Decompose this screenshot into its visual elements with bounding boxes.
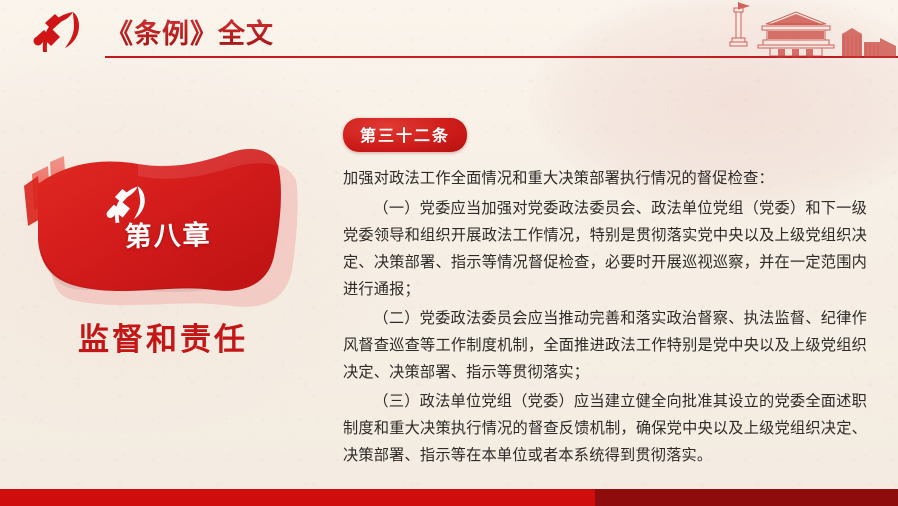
article-item-1: （一）党委应当加强对党委政法委员会、政法单位党组（党委）和下一级党委领导和组织开… [343,195,867,303]
article-item-2: （二）党委政法委员会应当推动完善和落实政治督察、执法监督、纪律作风督查巡查等工作… [343,305,867,386]
chapter-title-label: 监督和责任 [18,314,308,359]
article-content: 第三十二条 加强对政法工作全面情况和重大决策部署执行情况的督促检查： （一）党委… [343,118,867,469]
hammer-sickle-emblem-icon [29,8,91,56]
page-title: 《条例》全文 [106,12,274,51]
article-number-badge: 第三十二条 [343,118,467,152]
chapter-number-label: 第八章 [18,211,319,256]
chapter-flag-panel: 第八章 监督和责任 [18,128,318,378]
footer-bar-left-segment [0,489,595,506]
tiananmen-skyline-icon [666,0,898,58]
footer-bar [0,489,898,506]
footer-bar-right-segment [595,489,898,506]
slide-canvas: 《条例》全文 [0,0,898,506]
article-lead-paragraph: 加强对政法工作全面情况和重大决策部署执行情况的督促检查： [343,165,867,192]
slide-header: 《条例》全文 [0,0,898,62]
article-item-3: （三）政法单位党组（党委）应当建立健全向批准其设立的党委全面述职制度和重大决策执… [343,388,867,469]
